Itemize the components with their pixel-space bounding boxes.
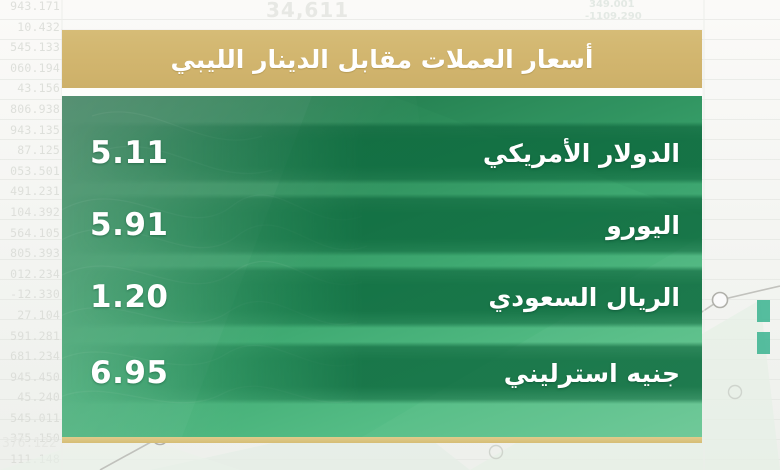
- currency-name: اليورو: [606, 194, 680, 256]
- rate-value: 5.91: [90, 194, 169, 256]
- background-bottom-number: 376.122: [2, 436, 57, 451]
- rate-value: 6.95: [90, 342, 169, 404]
- rate-value: 5.11: [90, 122, 169, 184]
- page-title: أسعار العملات مقابل الدينار الليبي: [171, 45, 594, 74]
- card-body: 5.11 الدولار الأمريكي 5.91 اليورو 1.20 ا…: [62, 96, 702, 437]
- currency-name: الدولار الأمريكي: [483, 122, 680, 184]
- table-row[interactable]: 5.91 اليورو: [62, 194, 702, 256]
- currency-name: جنيه استرليني: [504, 342, 680, 404]
- currency-name: الريال السعودي: [488, 266, 680, 328]
- table-row[interactable]: 6.95 جنيه استرليني: [62, 342, 702, 404]
- rate-value: 1.20: [90, 266, 169, 328]
- header-divider: [62, 88, 702, 96]
- currency-rates-card: أسعار العملات مقابل الدينار الليبي: [62, 30, 702, 443]
- card-footer-strip: [62, 437, 702, 443]
- table-row[interactable]: 1.20 الريال السعودي: [62, 266, 702, 328]
- card-header: أسعار العملات مقابل الدينار الليبي: [62, 30, 702, 88]
- table-row[interactable]: 5.11 الدولار الأمريكي: [62, 122, 702, 184]
